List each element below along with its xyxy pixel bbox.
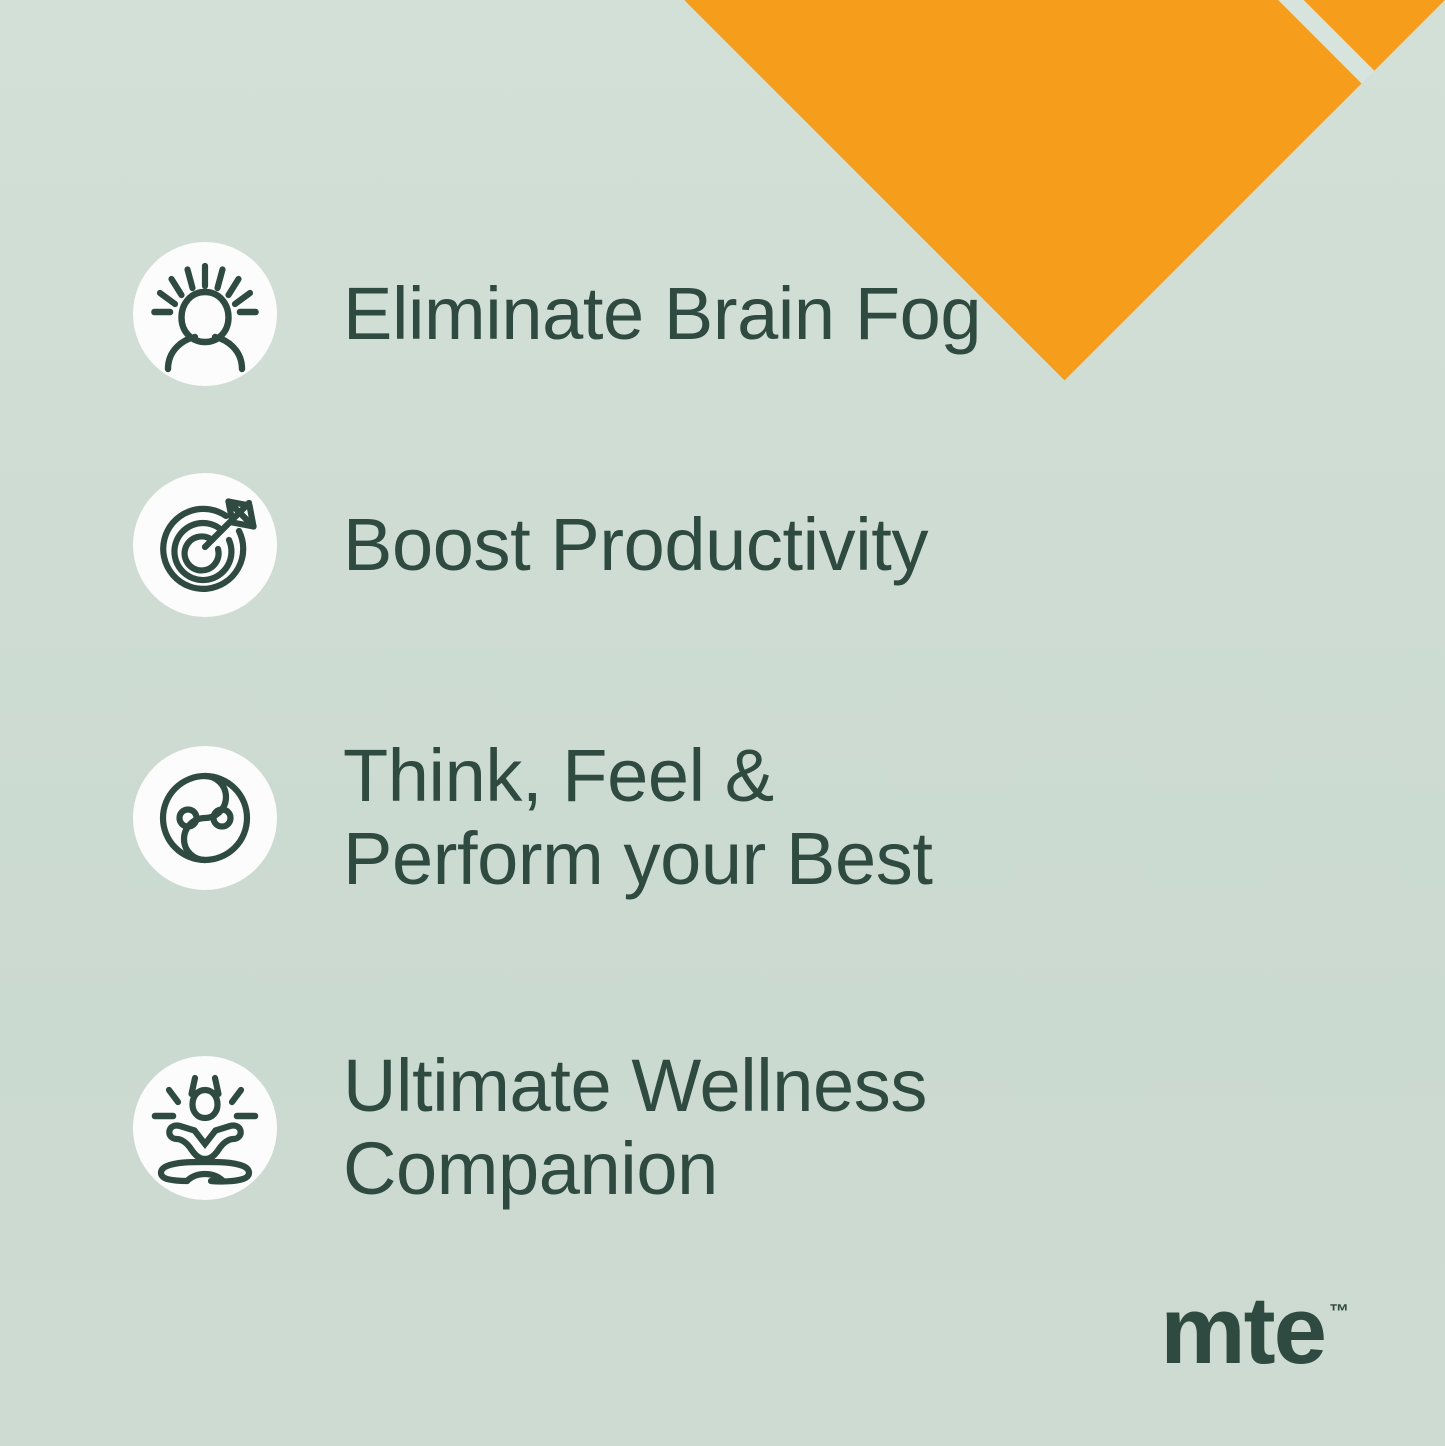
benefit-list: Eliminate Brain Fog [0, 0, 1445, 1446]
benefit-label: Boost Productivity [343, 505, 928, 585]
promo-graphic: Eliminate Brain Fog [0, 0, 1445, 1446]
list-item: Think, Feel & Perform your Best [133, 735, 933, 901]
benefit-label: Think, Feel & Perform your Best [343, 735, 933, 901]
head-with-rays-icon [133, 242, 277, 386]
yin-yang-icon [133, 746, 277, 890]
list-item: Eliminate Brain Fog [133, 242, 981, 386]
trademark-symbol: ™ [1329, 1302, 1349, 1322]
meditation-icon [133, 1056, 277, 1200]
brand-logo: mte ™ [1160, 1288, 1349, 1374]
benefit-label: Ultimate Wellness Companion [343, 1045, 927, 1211]
logo-wordmark: mte [1160, 1288, 1325, 1374]
target-arrow-icon [133, 473, 277, 617]
benefit-label: Eliminate Brain Fog [343, 274, 981, 354]
list-item: Ultimate Wellness Companion [133, 1045, 927, 1211]
list-item: Boost Productivity [133, 473, 928, 617]
